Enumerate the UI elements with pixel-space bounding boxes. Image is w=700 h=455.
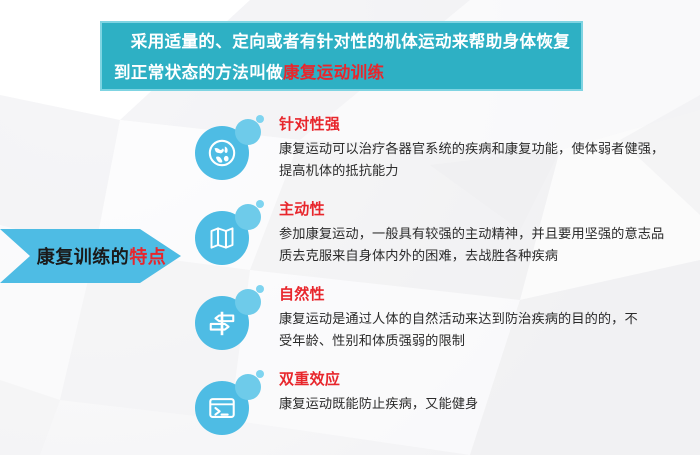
feature-item-4: 双重效应 康复运动既能防止疾病，又能健身 bbox=[195, 370, 695, 436]
folded-map-icon bbox=[195, 211, 249, 265]
globe-icon bbox=[195, 126, 249, 180]
banner-line-2-plain: 到正常状态的方法叫做 bbox=[114, 64, 283, 82]
terminal-window-icon bbox=[195, 381, 249, 435]
feature-text-2: 主动性 参加康复运动，一般具有较强的主动精神，并且要用坚强的意志品 质去克服来自… bbox=[267, 200, 695, 267]
feature-body-line: 康复运动既能防止疾病，又能健身 bbox=[279, 393, 695, 415]
feature-body-3: 康复运动是通过人体的自然活动来达到防治疾病的目的的，不 受年龄、性别和体质强弱的… bbox=[279, 308, 695, 352]
feature-body-line: 提高机体的抵抗能力 bbox=[279, 160, 695, 182]
banner-line-1: 采用适量的、定向或者有针对性的机体运动来帮助身体恢复 bbox=[102, 27, 581, 58]
icon-circle-dot bbox=[256, 115, 264, 123]
section-label-plain: 康复训练的 bbox=[37, 247, 130, 267]
feature-title-1: 针对性强 bbox=[279, 115, 695, 134]
feature-body-1: 康复运动可以治疗各器官系统的疾病和康复功能，使体弱者健强， 提高机体的抵抗能力 bbox=[279, 138, 695, 182]
feature-item-2: 主动性 参加康复运动，一般具有较强的主动精神，并且要用坚强的意志品 质去克服来自… bbox=[195, 200, 695, 267]
feature-text-4: 双重效应 康复运动既能防止疾病，又能健身 bbox=[267, 370, 695, 415]
feature-text-1: 针对性强 康复运动可以治疗各器官系统的疾病和康复功能，使体弱者健强， 提高机体的… bbox=[267, 115, 695, 182]
feature-body-line: 质去克服来自身体内外的困难，去战胜各种疾病 bbox=[279, 245, 695, 267]
feature-body-line: 受年龄、性别和体质强弱的限制 bbox=[279, 330, 695, 352]
feature-body-2: 参加康复运动，一般具有较强的主动精神，并且要用坚强的意志品 质去克服来自身体内外… bbox=[279, 223, 695, 267]
feature-body-line: 参加康复运动，一般具有较强的主动精神，并且要用坚强的意志品 bbox=[279, 223, 695, 245]
icon-cluster-4 bbox=[195, 370, 267, 436]
infographic-canvas: 采用适量的、定向或者有针对性的机体运动来帮助身体恢复 到正常状态的方法叫做康复运… bbox=[0, 0, 700, 455]
header-banner: 采用适量的、定向或者有针对性的机体运动来帮助身体恢复 到正常状态的方法叫做康复运… bbox=[100, 21, 583, 91]
banner-line-2-accent: 康复运动训练 bbox=[283, 64, 384, 82]
section-label-accent: 特点 bbox=[129, 247, 166, 267]
icon-cluster-2 bbox=[195, 200, 267, 266]
icon-circle-dot bbox=[256, 285, 264, 293]
feature-title-3: 自然性 bbox=[279, 285, 695, 304]
icon-circle-dot bbox=[256, 200, 264, 208]
feature-item-3: 自然性 康复运动是通过人体的自然活动来达到防治疾病的目的的，不 受年龄、性别和体… bbox=[195, 285, 695, 352]
feature-body-4: 康复运动既能防止疾病，又能健身 bbox=[279, 393, 695, 415]
feature-body-line: 康复运动是通过人体的自然活动来达到防治疾病的目的的，不 bbox=[279, 308, 695, 330]
icon-cluster-1 bbox=[195, 115, 267, 181]
feature-text-3: 自然性 康复运动是通过人体的自然活动来达到防治疾病的目的的，不 受年龄、性别和体… bbox=[267, 285, 695, 352]
signpost-icon bbox=[195, 296, 249, 350]
feature-item-1: 针对性强 康复运动可以治疗各器官系统的疾病和康复功能，使体弱者健强， 提高机体的… bbox=[195, 115, 695, 182]
icon-circle-dot bbox=[256, 370, 264, 378]
icon-cluster-3 bbox=[195, 285, 267, 351]
feature-title-4: 双重效应 bbox=[279, 370, 695, 389]
banner-line-2: 到正常状态的方法叫做康复运动训练 bbox=[102, 58, 581, 89]
feature-title-2: 主动性 bbox=[279, 200, 695, 219]
feature-body-line: 康复运动可以治疗各器官系统的疾病和康复功能，使体弱者健强， bbox=[279, 138, 695, 160]
